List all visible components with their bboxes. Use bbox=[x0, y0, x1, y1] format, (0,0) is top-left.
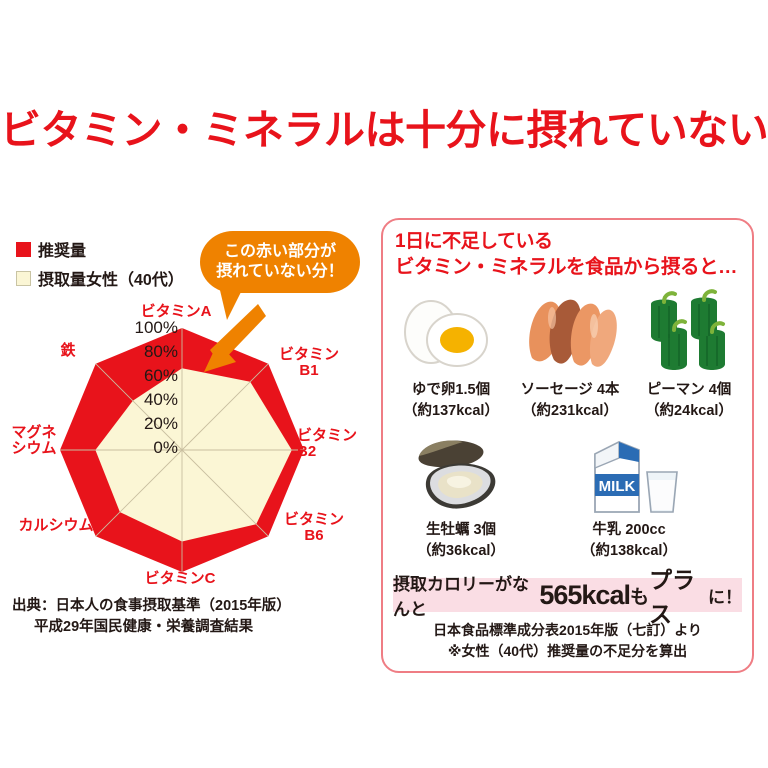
panel-heading-line-2: ビタミン・ミネラルを食品から摂ると… bbox=[395, 255, 747, 280]
callout-line-1: この赤い部分が bbox=[224, 242, 336, 262]
axis-label-vitamin-b2-main: ビタミン bbox=[297, 427, 357, 444]
tick-label-60: 60% bbox=[96, 366, 178, 386]
axis-label-vitamin-b1-sub: B1 bbox=[299, 362, 318, 379]
food-name-green-pepper: ピーマン 4個 bbox=[647, 378, 732, 399]
legend-label-recommended: 推奨量 bbox=[38, 237, 86, 261]
panel-footnote-line-2: ※女性（40代）推奨量の不足分を算出 bbox=[393, 641, 742, 662]
food-kcal-milk: （約138kcal） bbox=[581, 539, 677, 560]
panel-heading: 1日に不足している ビタミン・ミネラルを食品から摂ると… bbox=[395, 230, 747, 280]
food-kcal-oyster: （約36kcal） bbox=[417, 539, 505, 560]
axis-label-vitamin-b1-main: ビタミン bbox=[279, 346, 339, 363]
food-name-sausage: ソーセージ 4本 bbox=[521, 378, 620, 399]
tick-label-80: 80% bbox=[96, 342, 178, 362]
page-title: ビタミン・ミネラルは十分に摂れていない bbox=[0, 96, 768, 156]
axis-label-vitamin-b6: ビタミン B6 bbox=[274, 512, 354, 544]
tick-label-0: 0% bbox=[96, 438, 178, 458]
food-row-1: ゆで卵1.5個 （約137kcal） ソーセージ 4本 （約231kcal） bbox=[395, 288, 745, 420]
panel-heading-line-1: 1日に不足している bbox=[395, 230, 747, 255]
axis-label-magnesium-l2: シウム bbox=[11, 440, 56, 457]
axis-label-vitamin-b2-sub: B2 bbox=[297, 443, 316, 460]
food-row-2: 生牡蠣 3個 （約36kcal） MILK 牛乳 200cc bbox=[405, 428, 685, 560]
green-pepper-icon bbox=[633, 288, 745, 376]
sausage-icon bbox=[514, 288, 626, 376]
axis-label-vitamin-b6-main: ビタミン bbox=[284, 511, 344, 528]
food-kcal-boiled-egg: （約137kcal） bbox=[403, 399, 499, 420]
legend-label-intake: 摂取量女性（40代） bbox=[38, 266, 184, 290]
calorie-banner-number: 565kcal bbox=[539, 580, 630, 611]
source-citation: 出典：日本人の食事摂取基準（2015年版） 平成29年国民健康・栄養調査結果 bbox=[12, 596, 357, 638]
legend-item-recommended: 推奨量 bbox=[16, 237, 206, 261]
axis-label-vitamin-b1: ビタミン B1 bbox=[269, 347, 349, 379]
source-line-2: 平成29年国民健康・栄養調査結果 bbox=[12, 617, 357, 638]
tick-label-40: 40% bbox=[96, 390, 178, 410]
legend-swatch-red bbox=[16, 242, 31, 257]
chart-legend: 推奨量 摂取量女性（40代） bbox=[16, 237, 206, 295]
legend-swatch-cream bbox=[16, 271, 31, 286]
food-item-green-pepper: ピーマン 4個 （約24kcal） bbox=[633, 288, 745, 420]
infographic-root: ビタミン・ミネラルは十分に摂れていない 推奨量 摂取量女性（40代） ビタミンA… bbox=[0, 0, 768, 768]
callout-bubble: この赤い部分が 摂れていない分！ bbox=[200, 231, 360, 293]
calorie-banner: 摂取カロリーがなんと565kcalもプラスに！ bbox=[393, 578, 742, 612]
boiled-egg-icon bbox=[395, 288, 507, 376]
axis-label-vitamin-b6-sub: B6 bbox=[304, 527, 323, 544]
callout-arrow-icon bbox=[196, 300, 276, 380]
calorie-banner-suffix: に！ bbox=[708, 583, 742, 608]
legend-item-intake: 摂取量女性（40代） bbox=[16, 266, 206, 290]
food-kcal-green-pepper: （約24kcal） bbox=[645, 399, 733, 420]
food-item-milk: MILK 牛乳 200cc （約138kcal） bbox=[573, 428, 685, 560]
calorie-banner-prefix: 摂取カロリーがなんと bbox=[393, 570, 539, 620]
oyster-icon bbox=[405, 428, 517, 516]
axis-label-vitamin-c: ビタミンC bbox=[130, 571, 230, 587]
panel-footnote: 日本食品標準成分表2015年版（七訂）より ※女性（40代）推奨量の不足分を算出 bbox=[393, 620, 742, 662]
axis-label-magnesium-l1: マグネ bbox=[11, 424, 56, 441]
calorie-banner-middle: も bbox=[630, 582, 649, 609]
source-line-1: 出典：日本人の食事摂取基準（2015年版） bbox=[12, 598, 291, 614]
food-name-oyster: 生牡蠣 3個 bbox=[426, 518, 496, 539]
food-kcal-sausage: （約231kcal） bbox=[522, 399, 618, 420]
food-name-milk: 牛乳 200cc bbox=[592, 518, 665, 539]
axis-label-iron: 鉄 bbox=[48, 343, 88, 359]
callout-line-2: 摂れていない分！ bbox=[216, 262, 344, 282]
panel-footnote-line-1: 日本食品標準成分表2015年版（七訂）より bbox=[393, 620, 742, 641]
milk-carton-icon: MILK bbox=[573, 428, 685, 516]
food-panel: 1日に不足している ビタミン・ミネラルを食品から摂ると… ゆで卵1.5個 （約1… bbox=[381, 218, 754, 673]
axis-label-vitamin-b2: ビタミン B2 bbox=[297, 428, 377, 460]
food-item-boiled-egg: ゆで卵1.5個 （約137kcal） bbox=[395, 288, 507, 420]
food-item-oyster: 生牡蠣 3個 （約36kcal） bbox=[405, 428, 517, 560]
axis-label-magnesium: マグネ シウム bbox=[0, 425, 68, 457]
svg-text:MILK: MILK bbox=[599, 478, 636, 495]
tick-label-100: 100% bbox=[96, 318, 178, 338]
axis-label-calcium: カルシウム bbox=[0, 518, 112, 534]
food-item-sausage: ソーセージ 4本 （約231kcal） bbox=[514, 288, 626, 420]
calorie-banner-plus: プラス bbox=[649, 561, 708, 629]
tick-label-20: 20% bbox=[96, 414, 178, 434]
food-name-boiled-egg: ゆで卵1.5個 bbox=[412, 378, 490, 399]
radar-chart: ビタミンA ビタミン B1 ビタミン B2 ビタミン B6 ビタミンC カルシウ… bbox=[0, 300, 360, 600]
